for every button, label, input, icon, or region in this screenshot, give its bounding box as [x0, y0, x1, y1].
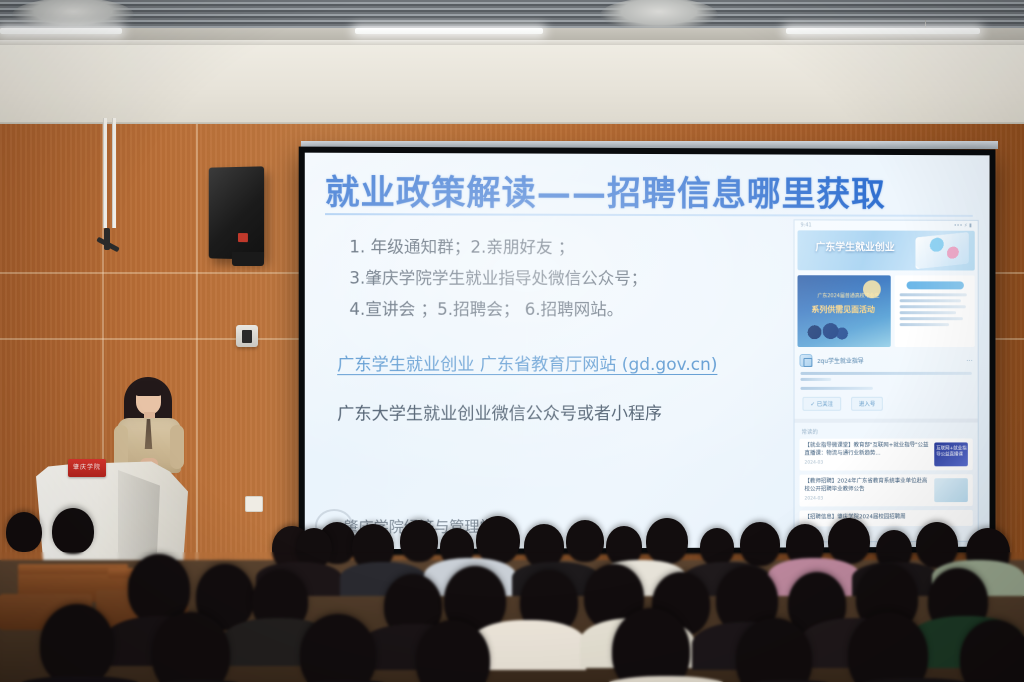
projector-mount-head: [104, 228, 110, 250]
notice-line: [900, 311, 956, 314]
enter-account-button[interactable]: 进入号: [851, 397, 883, 411]
more-options-icon[interactable]: ···: [966, 356, 973, 364]
audience-head: [400, 520, 438, 562]
job-fair-poster[interactable]: 广东2024届普通高校毕业生 系列供需见面活动: [798, 275, 891, 347]
upper-wall: [0, 45, 1024, 125]
audience-head: [52, 508, 94, 554]
article-thumbnail: 互联网+就业指导公益直播课: [934, 442, 968, 466]
slide-bullet-3: 4.宣讲会 ；5.招聘会； 6.招聘网站。: [349, 294, 770, 325]
poster-graduates-art: [805, 319, 851, 343]
poster-line-1: 广东2024届普通高校毕业生: [817, 292, 879, 299]
account-desc-line: [800, 378, 831, 381]
slide-bullet-list: 1. 年级通知群；2.亲朋好友 ； 3.肇庆学院学生就业指导处微信公众号； 4.…: [349, 231, 770, 325]
wall-speaker: [209, 166, 264, 259]
projector-mount-rod: [103, 118, 107, 228]
ceiling-tube-light: [355, 28, 543, 34]
audience-head: [566, 520, 604, 562]
embedded-phone-screenshot: 9:41 ••• ⚡ ▮ 广东学生就业创业 广东2024届普通高校毕业生 系列供…: [795, 220, 978, 541]
audience-shoulders: [10, 676, 150, 682]
article-list-item[interactable]: 【教师招聘】2024年广东省教育系统事业单位赴高校公开招聘毕业教师公告 2024…: [799, 474, 972, 506]
article-date: 2024-03: [804, 496, 930, 501]
article-text-block: 【教师招聘】2024年广东省教育系统事业单位赴高校公开招聘毕业教师公告 2024…: [804, 478, 930, 502]
speaker-logo: [238, 233, 248, 242]
account-name: zqu学生就业指导: [817, 356, 863, 365]
presenter-fringe: [134, 381, 163, 396]
notice-card-pill: [906, 281, 963, 289]
promo-card-row: 广东2024届普通高校毕业生 系列供需见面活动: [798, 275, 975, 347]
thumbnail-caption: 互联网+就业指导公益直播课: [936, 446, 968, 458]
audience-head: [828, 518, 870, 564]
projector-mount-rod: [112, 118, 116, 228]
notice-line: [900, 305, 966, 308]
panel-screen-icon: [242, 330, 252, 343]
notice-line: [900, 317, 963, 320]
banner-artwork: [915, 232, 968, 269]
slide-subtext: 广东大学生就业创业微信公众号或者小程序: [337, 399, 662, 424]
notice-card[interactable]: [895, 275, 975, 347]
wechat-account-row[interactable]: zqu学生就业指导 ···: [799, 354, 972, 367]
followed-button[interactable]: ✓ 已关注: [802, 397, 841, 411]
article-title: 【就业指导微课堂】教育部"互联网+就业指导"公益直播课：物流与通行业新趋势...: [804, 442, 930, 457]
slide-bullet-1: 1. 年级通知群；2.亲朋好友 ；: [349, 231, 770, 263]
account-button-row: ✓ 已关注 进入号: [802, 397, 969, 411]
audience-head: [700, 528, 734, 566]
audience-head: [6, 512, 42, 552]
projection-screen-frame: 就业政策解读——招聘信息哪里获取 1. 年级通知群；2.亲朋好友 ； 3.肇庆学…: [299, 147, 996, 556]
speaker-bracket: [232, 252, 264, 266]
audience-head: [646, 518, 688, 564]
status-icons: ••• ⚡ ▮: [954, 222, 972, 228]
article-list-label: 常读的: [801, 428, 970, 436]
gd-employment-banner[interactable]: 广东学生就业创业: [798, 230, 975, 270]
notice-line: [900, 293, 967, 296]
lectern-name-plate-text: 肇庆学院: [68, 459, 106, 477]
article-date: 2024-03: [804, 460, 930, 465]
account-desc-line: [800, 372, 971, 375]
phone-status-bar: 9:41 ••• ⚡ ▮: [795, 220, 978, 229]
lectern-name-plate: 肇庆学院: [68, 459, 106, 477]
audience-head: [300, 614, 376, 682]
audience-head: [40, 604, 114, 682]
ceiling-tube-light: [786, 28, 980, 34]
ceiling-slats: [0, 0, 1024, 30]
account-avatar: [799, 354, 812, 367]
slide-bullet-2: 3.肇庆学院学生就业指导处微信公众号；: [349, 262, 770, 294]
account-meta-line: [800, 387, 872, 390]
article-list-item[interactable]: 【就业指导微课堂】教育部"互联网+就业指导"公益直播课：物流与通行业新趋势...…: [799, 438, 972, 470]
audience-seating: [0, 508, 1024, 682]
article-thumbnail: [934, 478, 968, 502]
lecture-hall-photo: 就业政策解读——招聘信息哪里获取 1. 年级通知群；2.亲朋好友 ； 3.肇庆学…: [0, 0, 1024, 682]
status-time: 9:41: [800, 222, 811, 228]
account-description-block: [800, 372, 971, 390]
wall-control-panel[interactable]: [236, 325, 258, 347]
audience-head: [740, 522, 780, 566]
poster-line-2: 系列供需见面活动: [811, 304, 874, 315]
presenter-speaker: [112, 373, 186, 469]
article-text-block: 【就业指导微课堂】教育部"互联网+就业指导"公益直播课：物流与通行业新趋势...…: [804, 442, 930, 466]
slide-hyperlink[interactable]: 广东学生就业创业 广东省教育厅网站 (gd.gov.cn): [337, 350, 717, 375]
presenter-right-arm: [170, 425, 184, 469]
article-title: 【教师招聘】2024年广东省教育系统事业单位赴高校公开招聘毕业教师公告: [804, 478, 930, 493]
banner-title: 广东学生就业创业: [815, 238, 894, 253]
notice-line: [900, 299, 962, 302]
slide-title-rule: [325, 213, 973, 217]
slide-title: 就业政策解读——招聘信息哪里获取: [325, 165, 970, 216]
section-divider: [795, 419, 978, 423]
audience-head: [848, 612, 928, 682]
notice-line: [900, 323, 949, 326]
projection-screen-surface: 就业政策解读——招聘信息哪里获取 1. 年级通知群；2.亲朋好友 ； 3.肇庆学…: [305, 153, 990, 550]
audience-head: [916, 522, 958, 568]
ceiling-tube-light: [0, 28, 122, 34]
audience-head: [476, 516, 520, 564]
